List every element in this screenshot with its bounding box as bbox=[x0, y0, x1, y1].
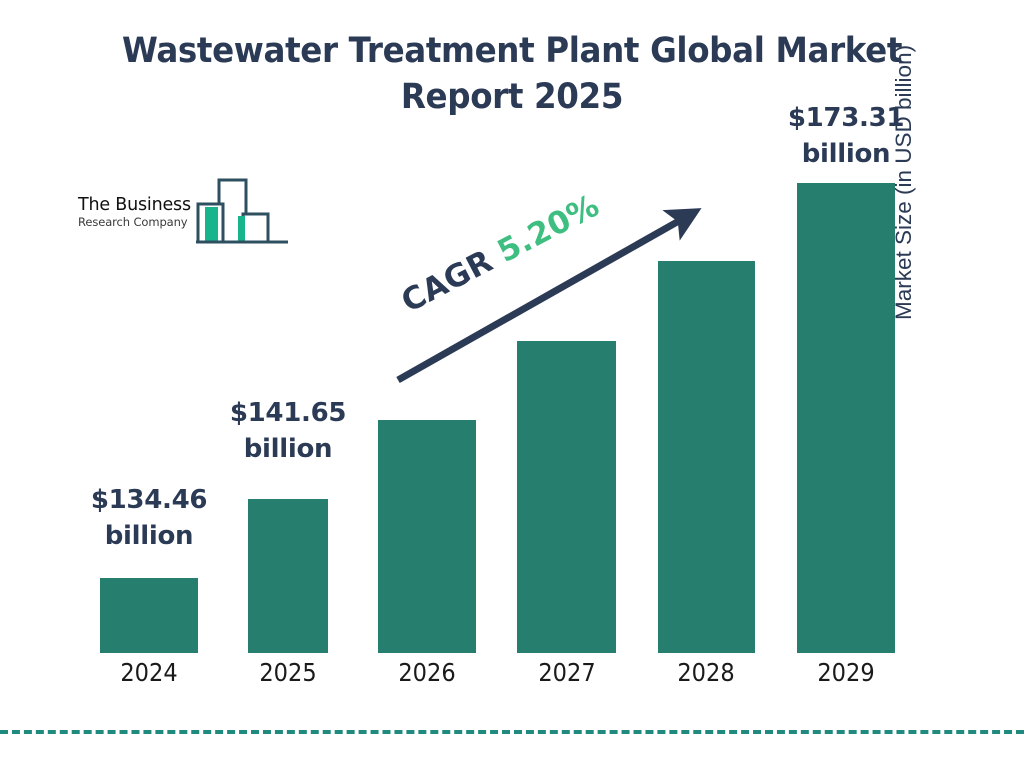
y-axis-title: Market Size (in USD billion) bbox=[891, 0, 917, 320]
plot-area: 2024 2025 2026 2027 2028 2029 $134.46 bi… bbox=[0, 0, 1024, 768]
growth-arrow bbox=[0, 0, 1024, 768]
chart-canvas: Wastewater Treatment Plant Global Market… bbox=[0, 0, 1024, 768]
footer-divider bbox=[0, 730, 1024, 734]
